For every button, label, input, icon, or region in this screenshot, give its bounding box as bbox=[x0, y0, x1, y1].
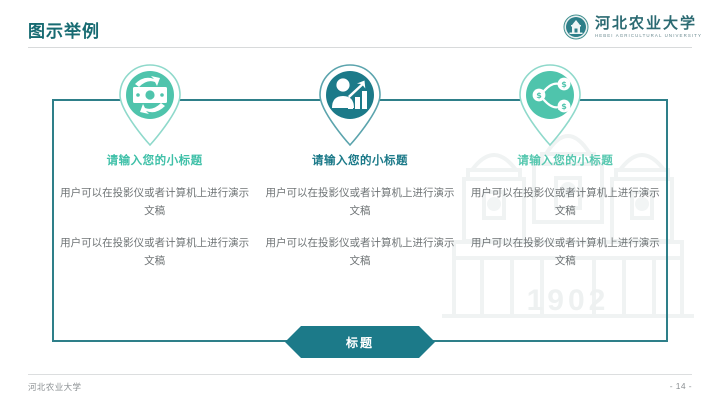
column-3-paragraph-1: 用户可以在投影仪或者计算机上进行演示文稿 bbox=[471, 184, 660, 220]
column-1-title: 请输入您的小标题 bbox=[60, 152, 249, 168]
svg-text:$: $ bbox=[561, 80, 567, 89]
column-1-paragraph-1: 用户可以在投影仪或者计算机上进行演示文稿 bbox=[60, 184, 249, 220]
columns-container: 请输入您的小标题 用户可以在投影仪或者计算机上进行演示文稿 用户可以在投影仪或者… bbox=[52, 152, 668, 322]
logo-name-cn: 河北农业大学 bbox=[595, 16, 702, 31]
column-2: 请输入您的小标题 用户可以在投影仪或者计算机上进行演示文稿 用户可以在投影仪或者… bbox=[257, 152, 462, 322]
money-exchange-icon[interactable] bbox=[117, 62, 183, 146]
footer-divider bbox=[28, 374, 692, 375]
header-divider bbox=[28, 47, 692, 48]
column-3: 请输入您的小标题 用户可以在投影仪或者计算机上进行演示文稿 用户可以在投影仪或者… bbox=[463, 152, 668, 322]
person-growth-chart-icon[interactable] bbox=[317, 62, 383, 146]
column-2-paragraph-2: 用户可以在投影仪或者计算机上进行演示文稿 bbox=[265, 234, 454, 270]
logo-name-en: HEBEI AGRICULTURAL UNIVERSITY bbox=[595, 32, 702, 39]
column-2-title: 请输入您的小标题 bbox=[265, 152, 454, 168]
bottom-banner[interactable]: 标题 bbox=[285, 326, 435, 358]
page-title: 图示举例 bbox=[28, 17, 100, 42]
svg-text:$: $ bbox=[561, 102, 567, 111]
svg-text:$: $ bbox=[536, 91, 542, 100]
bottom-banner-label: 标题 bbox=[285, 326, 435, 358]
column-1: 请输入您的小标题 用户可以在投影仪或者计算机上进行演示文稿 用户可以在投影仪或者… bbox=[52, 152, 257, 322]
footer-organization: 河北农业大学 bbox=[28, 381, 81, 393]
university-seal-icon bbox=[563, 14, 589, 40]
slide-canvas: 1902 图示举例 河北农业大学 HEBEI AGRICULTURAL U bbox=[0, 0, 720, 405]
money-distribution-icon[interactable]: $ $ $ bbox=[517, 62, 583, 146]
column-3-paragraph-2: 用户可以在投影仪或者计算机上进行演示文稿 bbox=[471, 234, 660, 270]
column-2-paragraph-1: 用户可以在投影仪或者计算机上进行演示文稿 bbox=[265, 184, 454, 220]
university-logo: 河北农业大学 HEBEI AGRICULTURAL UNIVERSITY bbox=[563, 12, 702, 42]
page-number: - 14 - bbox=[670, 381, 692, 391]
column-1-paragraph-2: 用户可以在投影仪或者计算机上进行演示文稿 bbox=[60, 234, 249, 270]
column-3-title: 请输入您的小标题 bbox=[471, 152, 660, 168]
